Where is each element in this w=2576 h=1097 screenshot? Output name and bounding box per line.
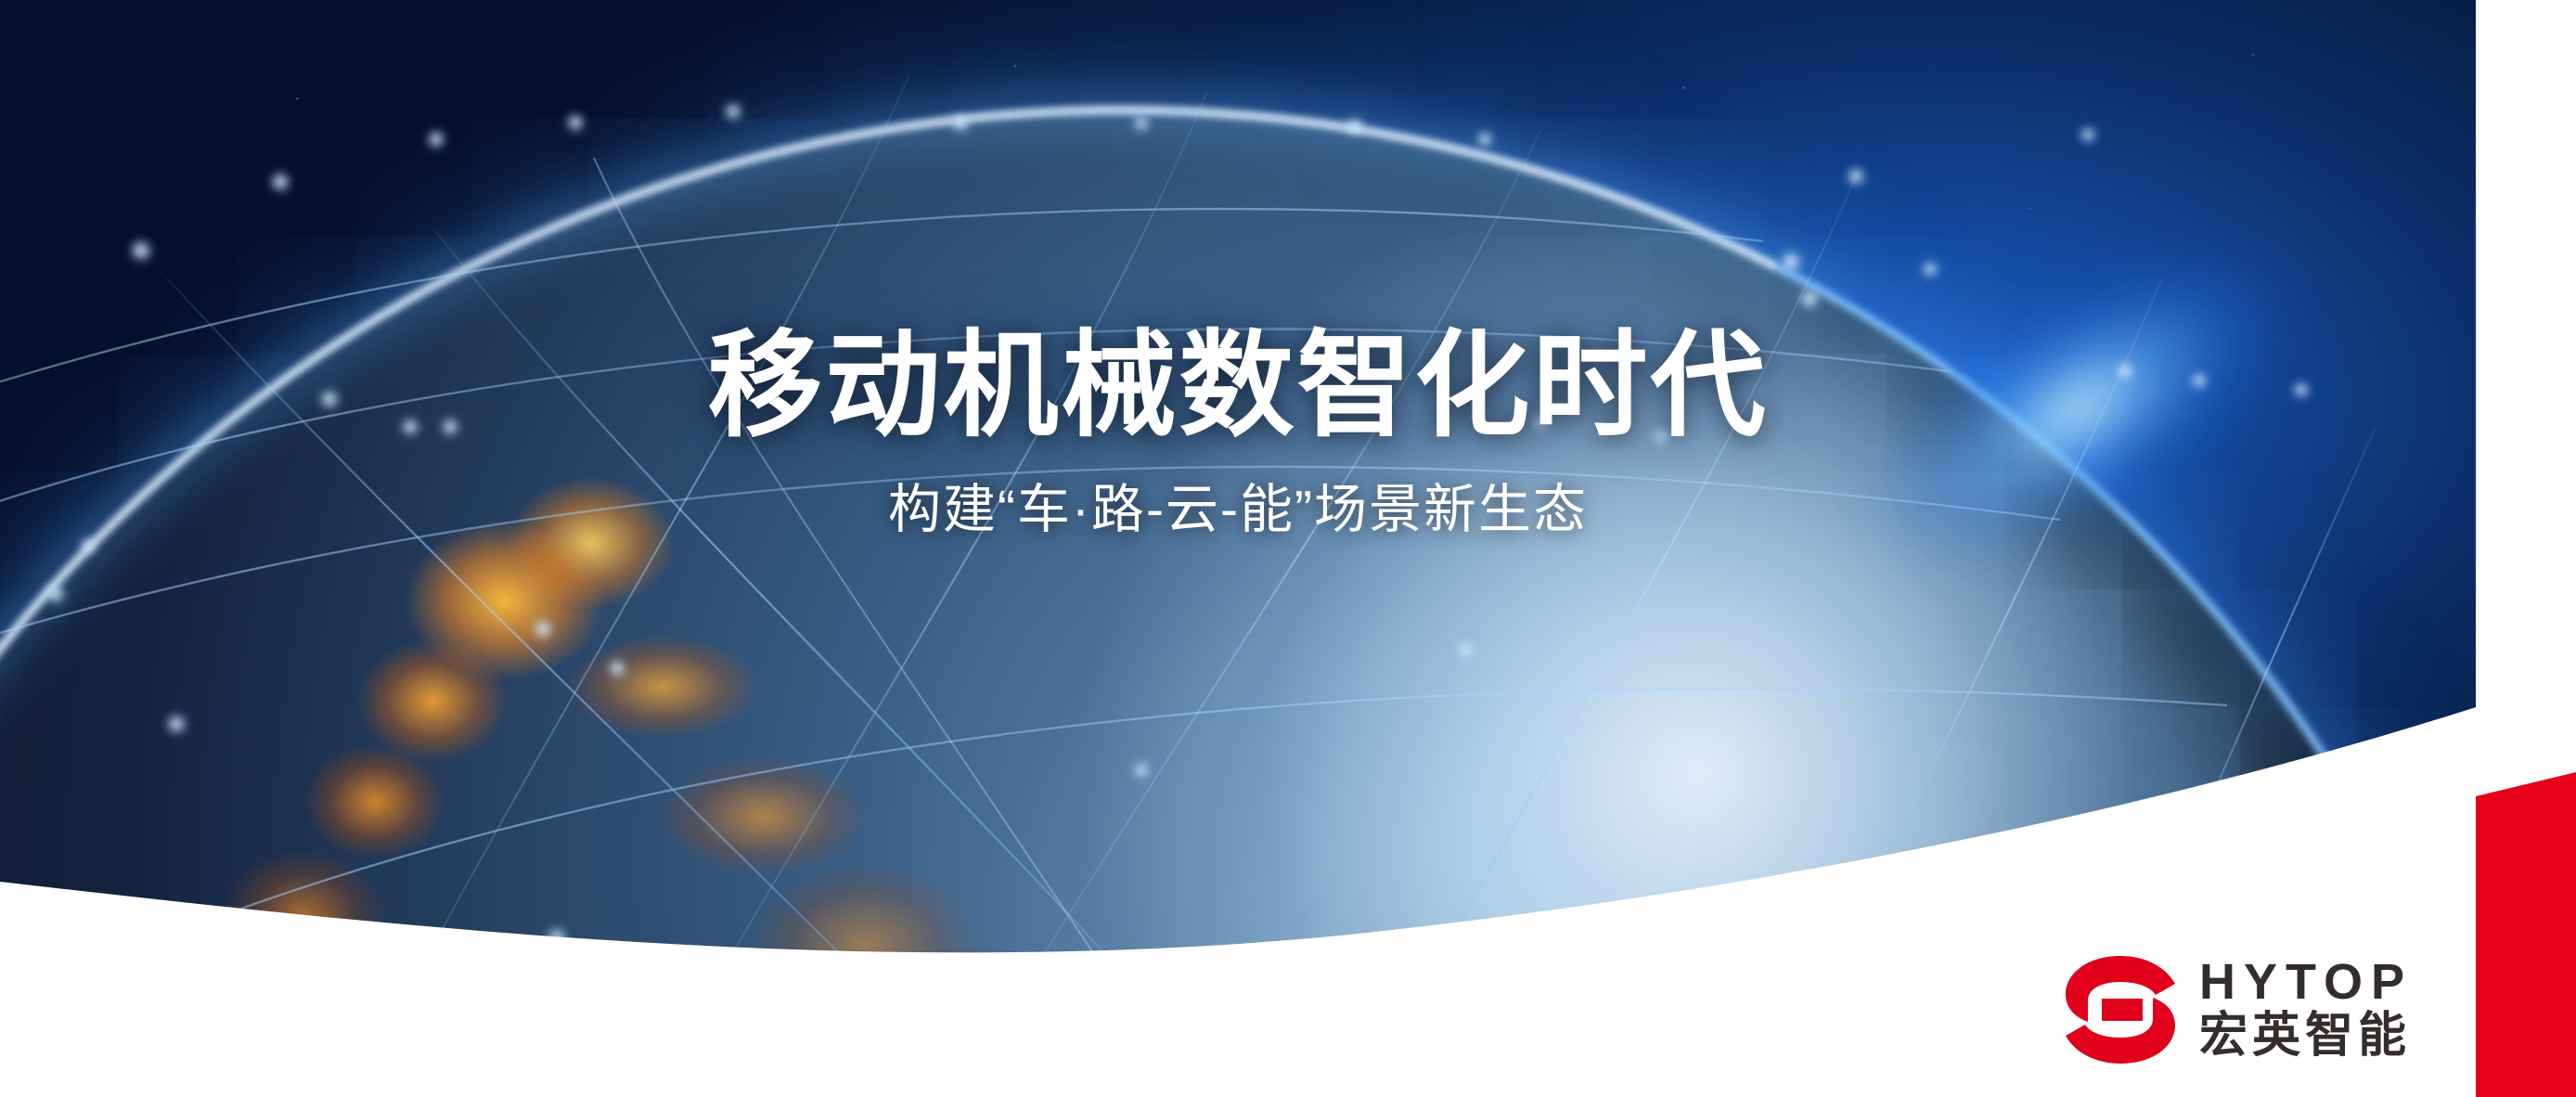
hero-background-image: 移动机械数智化时代 构建“车·路-云-能”场景新生态 (0, 0, 2476, 1097)
logo-wordmark: HYTOP 宏英智能 (2199, 957, 2413, 1062)
cover-slide: 移动机械数智化时代 构建“车·路-云-能”场景新生态 HYTOP 宏英智能 (0, 0, 2576, 1097)
red-accent-bar (2476, 0, 2576, 1097)
hytop-spiral-mark-icon (2062, 952, 2179, 1067)
company-logo: HYTOP 宏英智能 (2062, 949, 2461, 1071)
logo-english-text: HYTOP (2199, 957, 2413, 1007)
logo-chinese-text: 宏英智能 (2199, 1011, 2413, 1062)
